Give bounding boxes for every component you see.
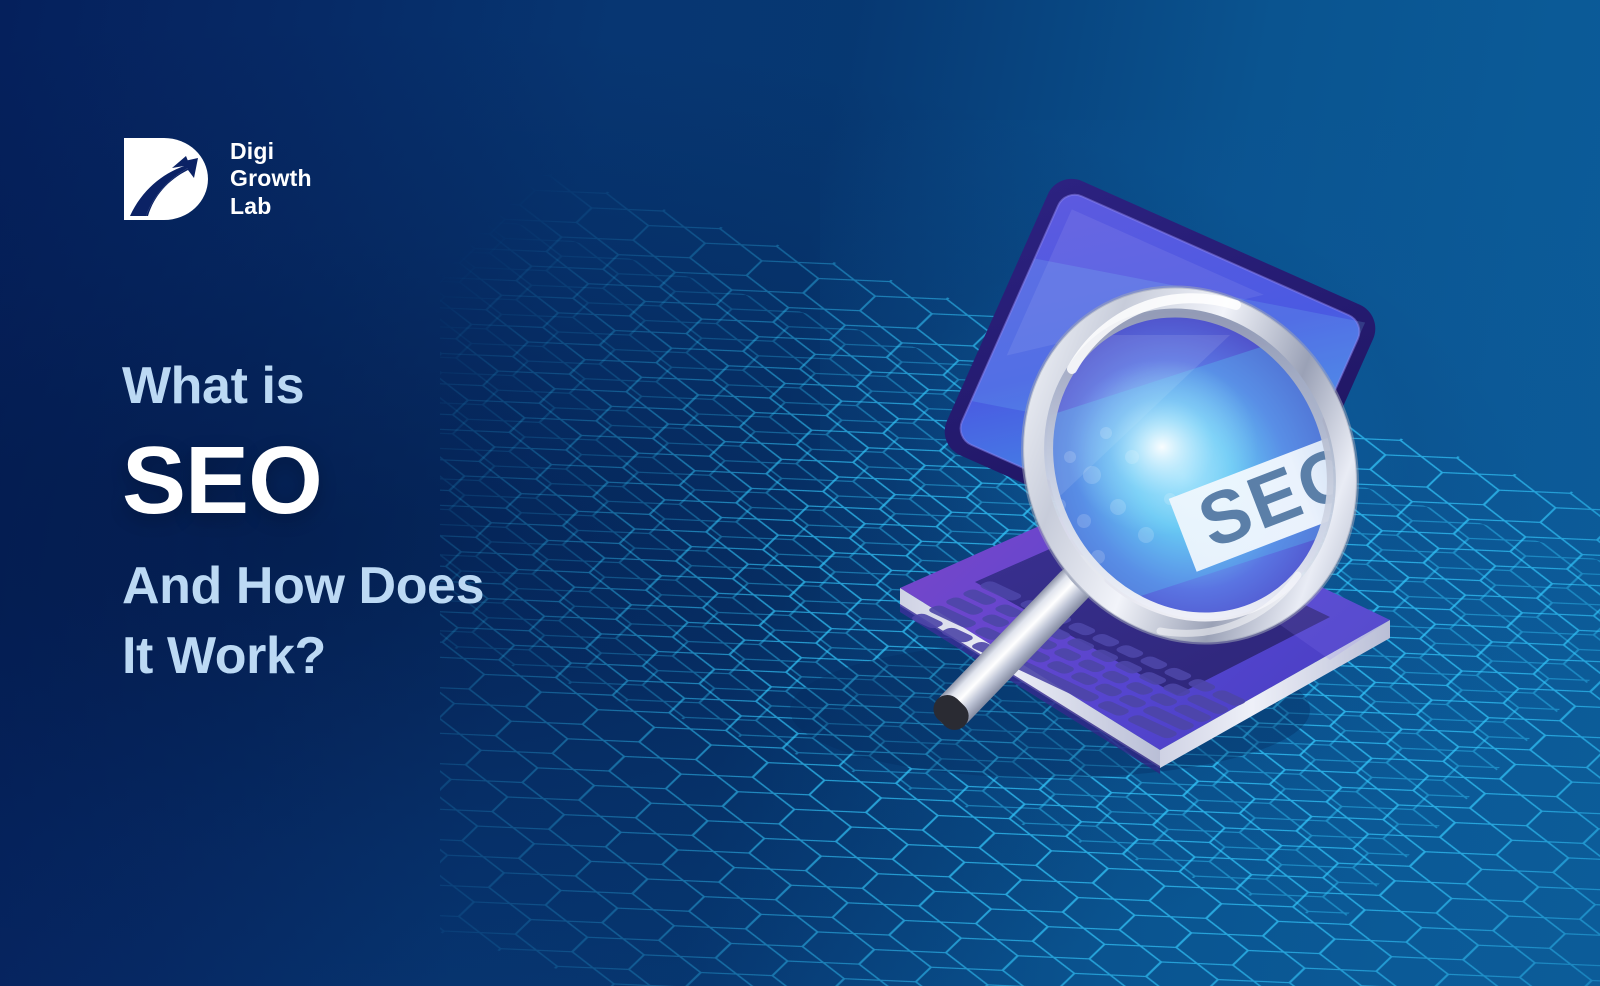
brand-name: Digi Growth Lab: [230, 138, 312, 219]
brand-name-line-2: Growth: [230, 165, 312, 192]
seo-illustration: SEO: [690, 190, 1520, 870]
digi-growth-lab-d-arrow-icon: [120, 132, 212, 226]
brand-name-line-1: Digi: [230, 138, 312, 165]
headline-emphasis-seo: SEO: [122, 428, 762, 534]
headline-line-3: And How Does: [122, 556, 762, 616]
brand-name-line-3: Lab: [230, 193, 312, 220]
page-title: What is SEO And How Does It Work?: [122, 356, 762, 687]
headline-line-1: What is: [122, 356, 762, 416]
banner-canvas: SEO Digi: [0, 0, 1600, 986]
brand-logo[interactable]: Digi Growth Lab: [120, 132, 312, 226]
headline-line-4: It Work?: [122, 626, 762, 686]
